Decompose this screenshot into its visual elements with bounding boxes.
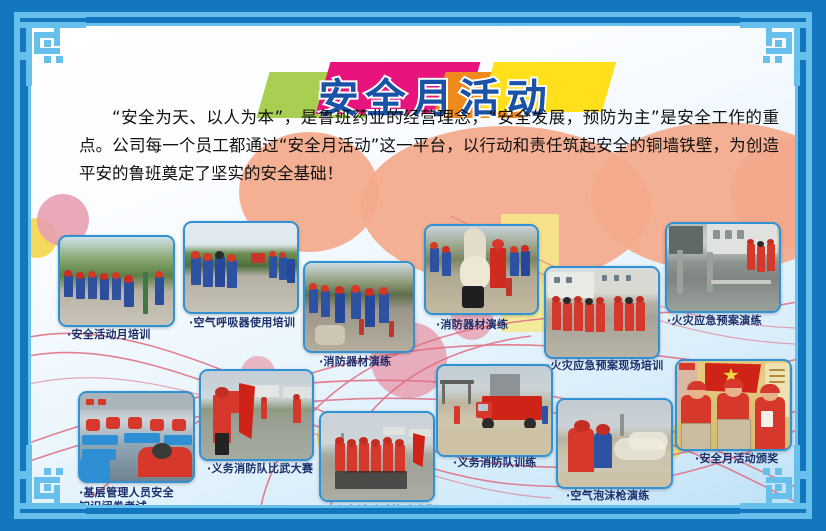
- photo-safety-month-training[interactable]: [58, 235, 175, 327]
- photo-image: [185, 223, 297, 312]
- photo-volunteer-firefighter-competition[interactable]: [199, 369, 314, 461]
- photo-image: [201, 371, 312, 459]
- photo-image: [667, 224, 779, 311]
- photo-caption: ·空气呼吸器使用培训: [189, 316, 295, 330]
- photo-image: [426, 226, 537, 313]
- photo-volunteer-firefighter-group[interactable]: [319, 411, 435, 502]
- deco-yellow-circle-a: [31, 218, 57, 258]
- photo-image: [80, 393, 193, 481]
- photo-image: [305, 263, 413, 351]
- photo-fire-emergency-drill[interactable]: [665, 222, 781, 313]
- photo-safety-month-award[interactable]: [675, 359, 792, 451]
- photo-image: [558, 400, 671, 487]
- photo-caption: ·消防器材演练: [319, 355, 391, 369]
- photo-image: [438, 366, 551, 455]
- photo-fire-emergency-site-training[interactable]: [544, 266, 660, 359]
- safety-month-poster: 安全月活动 安全月活动 “安全为天、以人为本”，是鲁班药业的经营理念，“安全发展…: [0, 0, 826, 531]
- photo-management-safety-exam[interactable]: [78, 391, 195, 483]
- photo-caption: ·义务消防队比武大赛: [207, 462, 313, 476]
- photo-caption: ·义务消防队训练: [453, 456, 537, 470]
- photo-caption: ·安全活动月培训: [67, 328, 151, 342]
- photo-image: [677, 361, 790, 449]
- photo-caption: ·义务消防队比武合影: [331, 504, 437, 505]
- photo-caption: ·火灾应急预案现场培训: [546, 359, 663, 373]
- photo-fire-equipment-drill-a[interactable]: [303, 261, 415, 353]
- photo-fire-equipment-drill-b[interactable]: [424, 224, 539, 315]
- photo-caption: ·基层管理人员安全 知识闭卷考试: [79, 486, 174, 505]
- poster-content-stage: 安全月活动 安全月活动 “安全为天、以人为本”，是鲁班药业的经营理念，“安全发展…: [31, 26, 795, 505]
- photo-caption: ·火灾应急预案演练: [667, 314, 762, 328]
- photo-caption: ·消防器材演练: [436, 318, 508, 332]
- intro-paragraph: “安全为天、以人为本”，是鲁班药业的经营理念，“安全发展，预防为主”是安全工作的…: [79, 104, 779, 188]
- photo-image: [60, 237, 173, 325]
- photo-volunteer-firefighter-training[interactable]: [436, 364, 553, 457]
- photo-image: [321, 413, 433, 500]
- photo-air-respirator-training[interactable]: [183, 221, 299, 314]
- photo-air-foam-gun-drill[interactable]: [556, 398, 673, 489]
- photo-caption: ·安全月活动颁奖: [695, 452, 779, 466]
- photo-image: [546, 268, 658, 357]
- photo-caption: ·空气泡沫枪演练: [566, 489, 650, 503]
